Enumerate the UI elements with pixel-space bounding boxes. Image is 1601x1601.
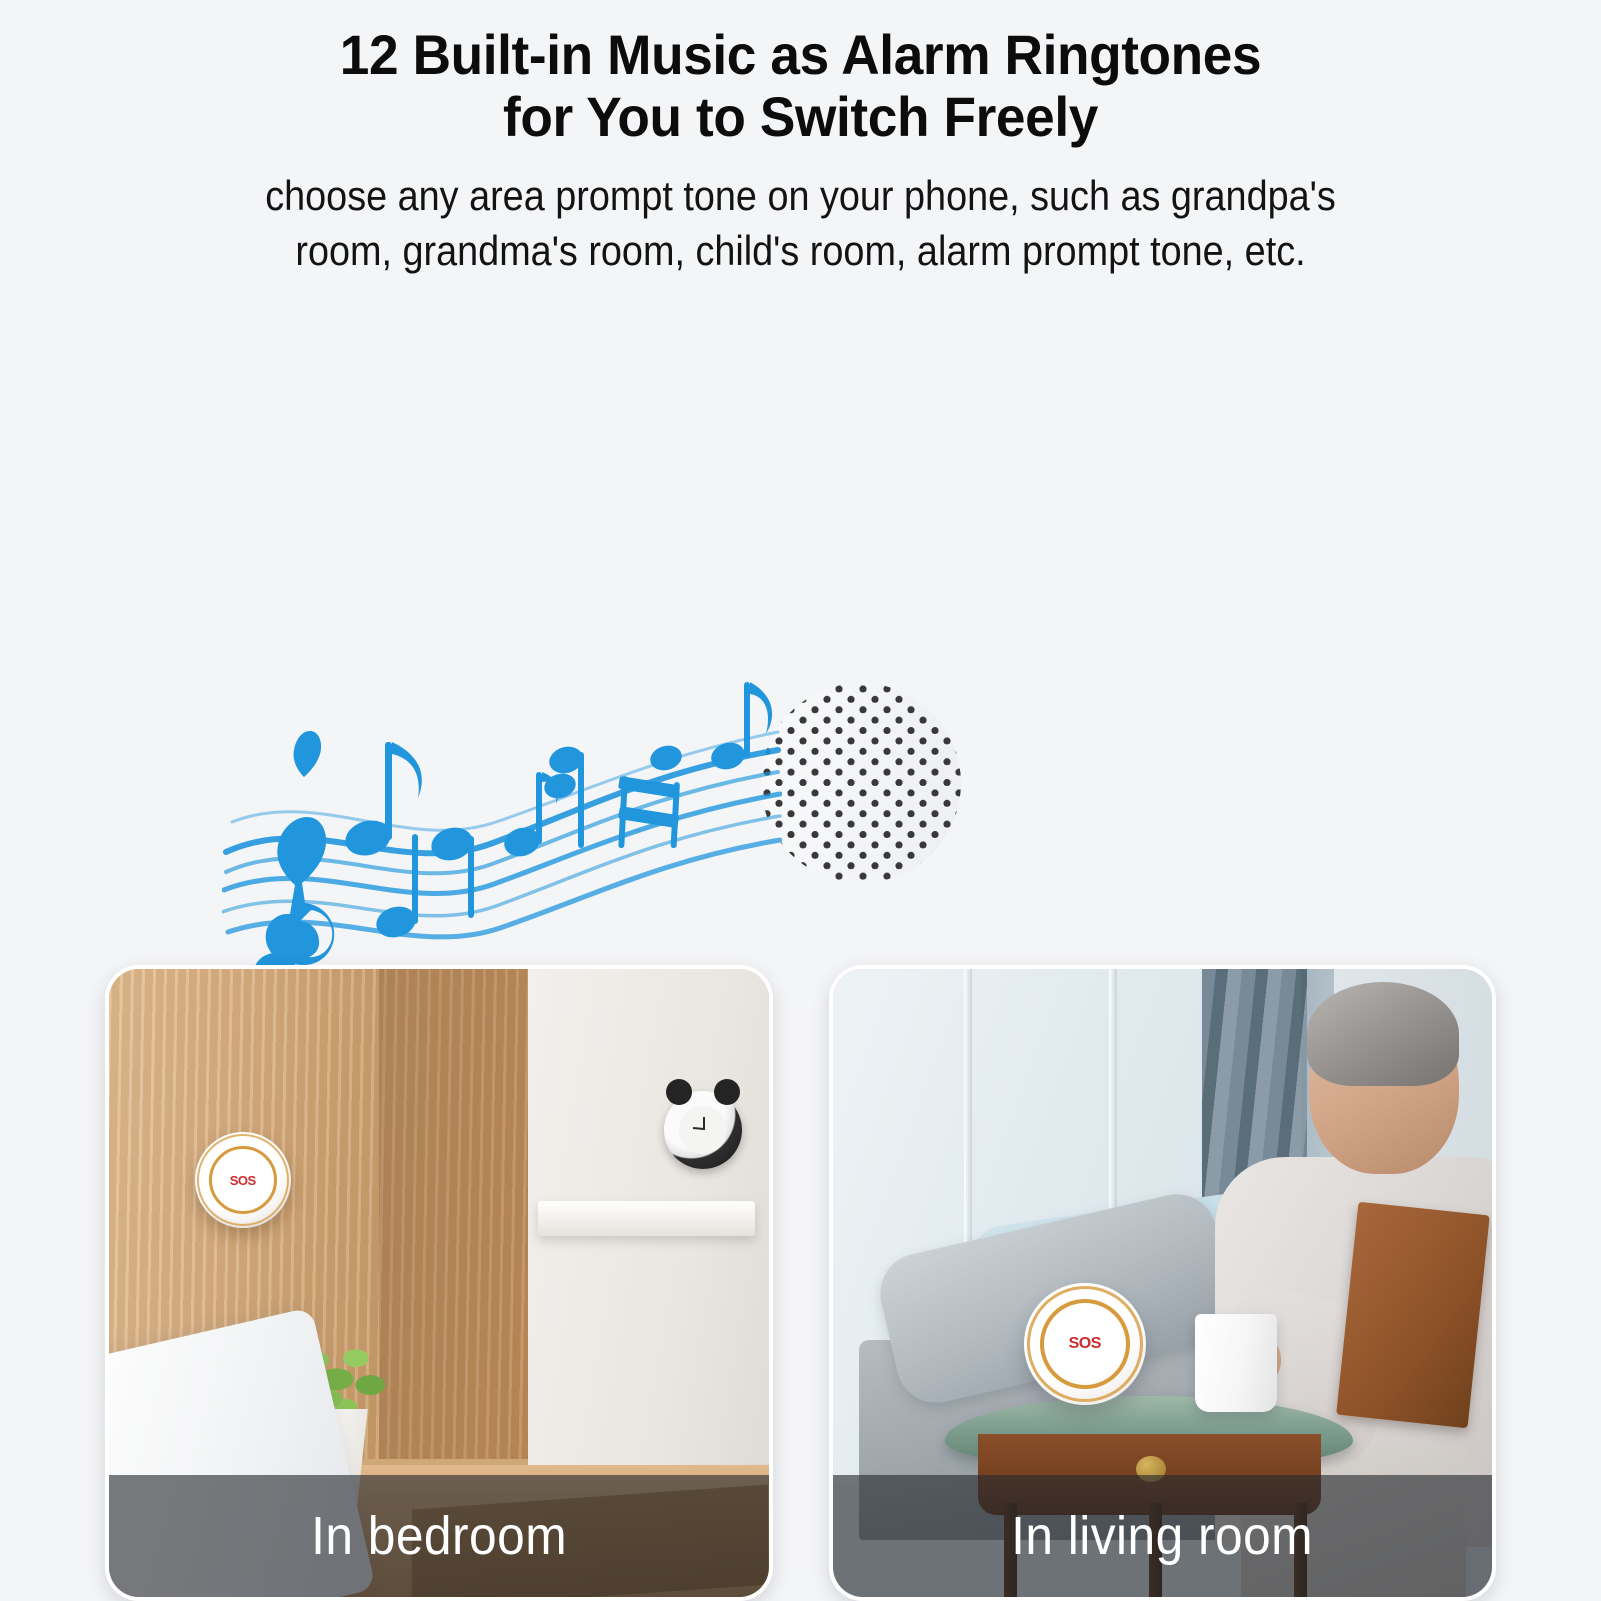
caption-bar-living-room: In living room bbox=[833, 1475, 1493, 1597]
person-hair bbox=[1307, 982, 1459, 1086]
scene-card-list: SOS In bedroom bbox=[0, 965, 1601, 1601]
product-banner: 12 Built-in Music as Alarm Ringtones for… bbox=[0, 0, 1601, 1601]
wifi-icon: WiFi bbox=[969, 617, 1045, 651]
wifi-label-dark: Fi bbox=[1007, 622, 1031, 645]
coffee-mug bbox=[1195, 1314, 1277, 1412]
caption-living-room: In living room bbox=[1011, 1505, 1313, 1567]
title-line-2: for You to Switch Freely bbox=[40, 86, 1561, 148]
device-display-panel: SOS WiFi bbox=[543, 291, 1091, 679]
banner-header: 12 Built-in Music as Alarm Ringtones for… bbox=[0, 24, 1601, 278]
caption-bedroom: In bedroom bbox=[311, 1505, 567, 1567]
banner-title: 12 Built-in Music as Alarm Ringtones for… bbox=[40, 24, 1561, 147]
sos-button-label: SOS bbox=[1069, 1335, 1101, 1353]
banner-subtitle: choose any area prompt tone on your phon… bbox=[80, 169, 1521, 278]
sos-display-text: SOS bbox=[543, 403, 1091, 545]
book bbox=[1336, 1201, 1489, 1427]
bedroom-shelf bbox=[538, 1201, 756, 1236]
speaker-grille-icon bbox=[761, 683, 961, 883]
subtitle-line-2: room, grandma's room, child's room, alar… bbox=[80, 224, 1521, 279]
wifi-label-light: Wi bbox=[983, 623, 1007, 644]
sos-button-label: SOS bbox=[230, 1173, 256, 1188]
side-vent-slots-icon bbox=[1103, 418, 1129, 598]
title-line-1: 12 Built-in Music as Alarm Ringtones bbox=[40, 24, 1561, 86]
scene-card-living-room[interactable]: SOS In living room bbox=[829, 965, 1497, 1601]
subtitle-line-1: choose any area prompt tone on your phon… bbox=[80, 169, 1521, 224]
alarm-host-device: SOS WiFi bbox=[533, 283, 1173, 926]
sos-button-living-room[interactable]: SOS bbox=[1024, 1283, 1146, 1405]
caption-bar-bedroom: In bedroom bbox=[109, 1475, 769, 1597]
scene-card-bedroom[interactable]: SOS In bedroom bbox=[105, 965, 773, 1601]
sos-button-bedroom[interactable]: SOS bbox=[195, 1132, 291, 1228]
